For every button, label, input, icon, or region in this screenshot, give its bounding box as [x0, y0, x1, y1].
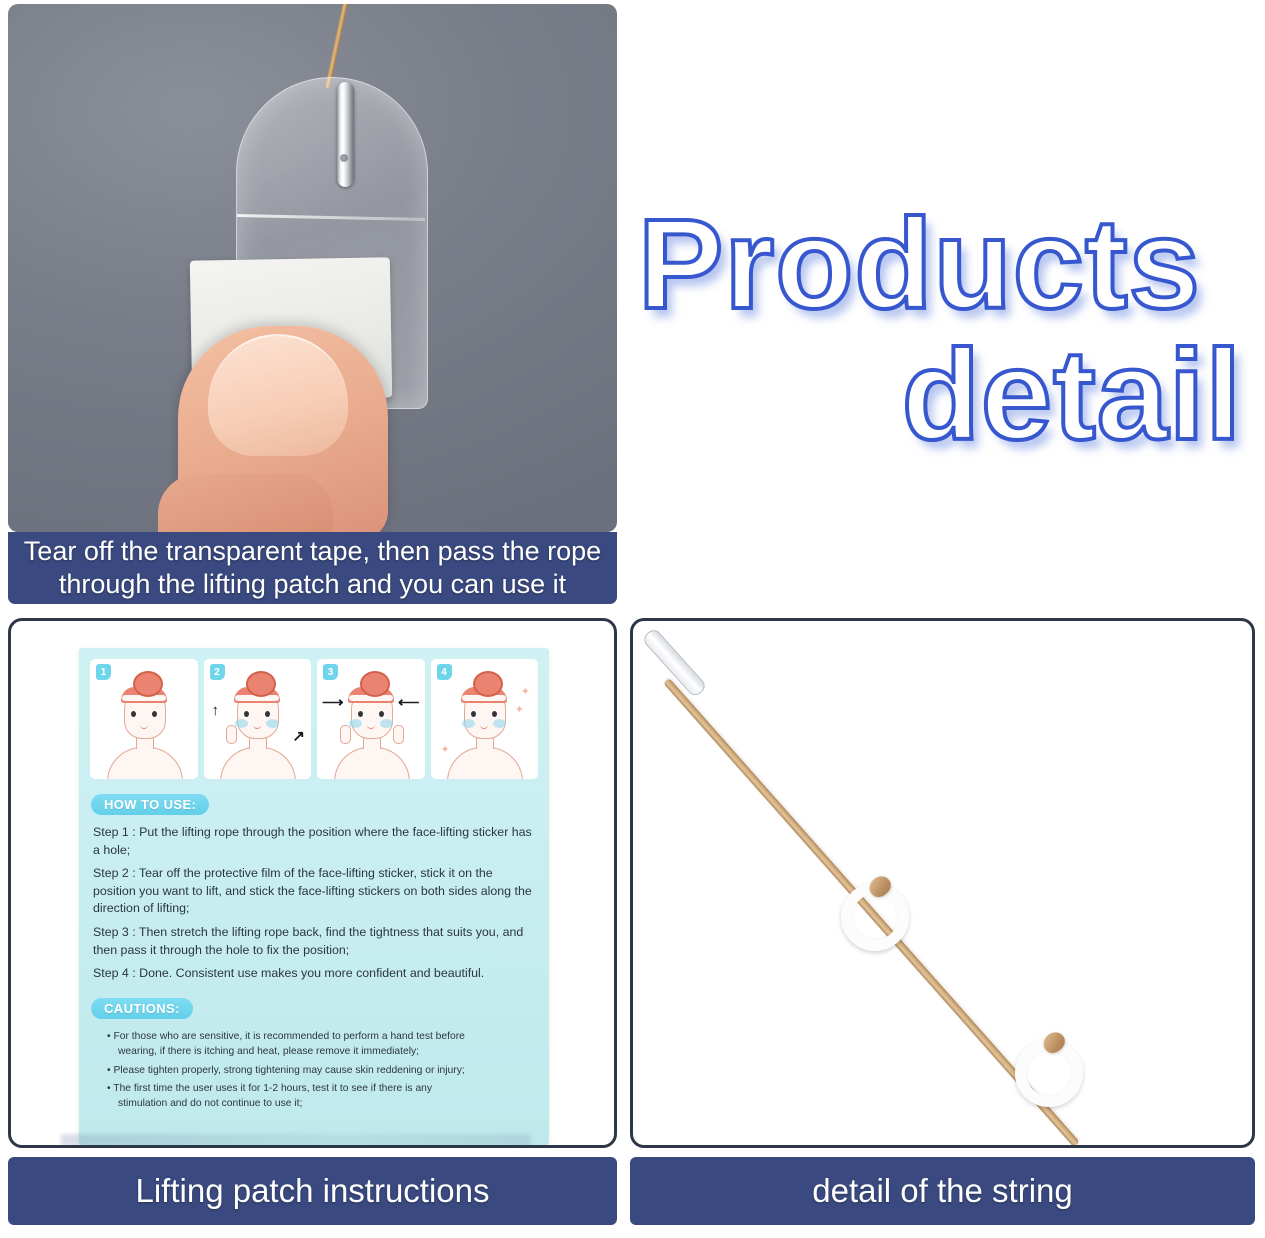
tape-photo-caption: Tear off the transparent tape, then pass…: [8, 532, 617, 604]
arrow-right-icon: ⟶: [322, 695, 344, 710]
page-title: Products detail: [632, 150, 1256, 510]
eyelet-icon: [337, 82, 354, 187]
illustration-number: 2: [210, 664, 225, 680]
illustration-step-1: 1: [90, 659, 198, 779]
instruction-sheet: 1 2 ↑ ↗ 3 ⟶: [79, 648, 549, 1145]
step-item: Step 1 : Put the lifting rope through th…: [93, 824, 535, 859]
string-photo: [630, 618, 1255, 1148]
knuckle-shape: [158, 474, 333, 532]
sparkle-icon: ✦: [441, 743, 450, 756]
instructions-panel: 1 2 ↑ ↗ 3 ⟶: [8, 618, 617, 1148]
caution-item: For those who are sensitive, it is recom…: [118, 1030, 465, 1060]
cautions-list: For those who are sensitive, it is recom…: [105, 1030, 465, 1116]
illustration-row: 1 2 ↑ ↗ 3 ⟶: [85, 654, 543, 784]
instructions-caption: Lifting patch instructions: [8, 1157, 617, 1225]
arrow-left-icon: ⟵: [398, 695, 420, 710]
arrow-curve-icon: ↗: [292, 729, 305, 744]
illustration-step-2: 2 ↑ ↗: [204, 659, 312, 779]
how-to-use-heading: HOW TO USE:: [91, 794, 209, 815]
sparkle-icon: ✦: [515, 703, 524, 716]
illustration-step-4: 4 ✦ ✦ ✦: [431, 659, 539, 779]
cord-icon: [325, 4, 349, 89]
sparkle-icon: ✦: [521, 685, 530, 698]
tape-photo-scene: [8, 4, 617, 532]
arrow-up-icon: ↑: [212, 703, 220, 718]
headline-line-2: detail: [632, 333, 1256, 458]
illustration-number: 3: [323, 664, 338, 680]
cautions-heading: CAUTIONS:: [91, 998, 193, 1019]
step-item: Step 4 : Done. Consistent use makes you …: [93, 965, 535, 983]
eyelet-hole-icon: [340, 154, 348, 162]
tape-photo: [8, 4, 617, 532]
step-item: Step 3 : Then stretch the lifting rope b…: [93, 924, 535, 959]
illustration-step-3: 3 ⟶ ⟵: [317, 659, 425, 779]
caution-item: The first time the user uses it for 1-2 …: [118, 1082, 465, 1112]
string-photo-caption: detail of the string: [630, 1157, 1255, 1225]
step-item: Step 2 : Tear off the protective film of…: [93, 865, 535, 918]
caution-item: Please tighten properly, strong tighteni…: [118, 1064, 465, 1079]
blurred-footer-text: [61, 1134, 531, 1147]
steps-list: Step 1 : Put the lifting rope through th…: [93, 824, 535, 989]
headline-line-1: Products: [632, 202, 1256, 327]
illustration-number: 4: [437, 664, 452, 680]
illustration-number: 1: [96, 664, 111, 680]
